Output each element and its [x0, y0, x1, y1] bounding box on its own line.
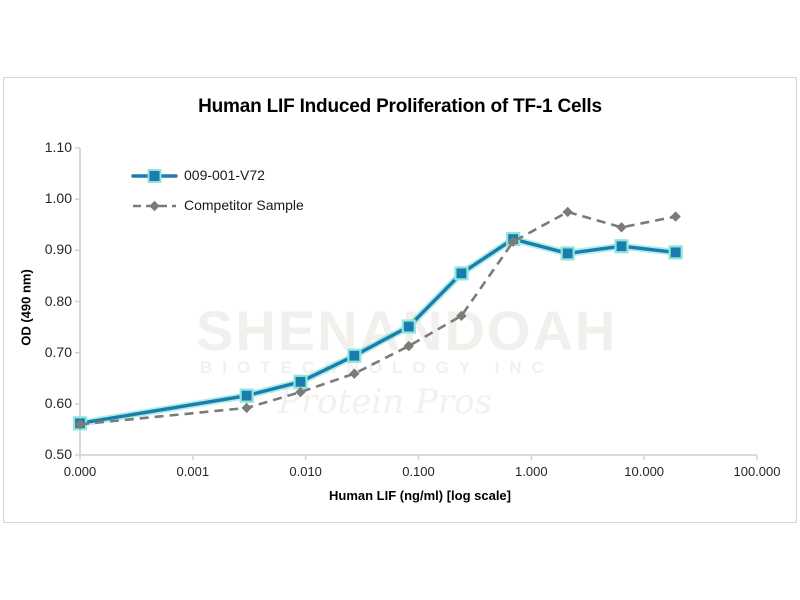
- y-tick-label: 0.90: [18, 241, 72, 257]
- x-tick-label: 0.001: [138, 464, 248, 479]
- x-axis-label: Human LIF (ng/ml) [log scale]: [80, 488, 760, 503]
- data-point-marker: [349, 368, 359, 378]
- y-tick-label: 0.60: [18, 395, 72, 411]
- x-tick-label: 1.000: [476, 464, 586, 479]
- legend-item-1[interactable]: 009-001-V72: [184, 167, 265, 183]
- axis-tick-marks: [75, 148, 757, 460]
- legend-glyphs: [133, 170, 176, 211]
- data-point-marker: [295, 376, 307, 388]
- x-tick-label: 0.010: [251, 464, 361, 479]
- chart-plot-area: [0, 0, 800, 600]
- data-point-marker: [616, 222, 626, 232]
- data-point-marker: [455, 267, 467, 279]
- x-tick-label: 10.000: [589, 464, 699, 479]
- y-tick-label: 0.70: [18, 344, 72, 360]
- data-point-marker: [241, 390, 253, 402]
- data-point-marker: [241, 403, 251, 413]
- data-point-marker: [348, 350, 360, 362]
- data-point-marker: [403, 321, 415, 333]
- series-1: [74, 233, 682, 429]
- data-point-marker: [404, 341, 414, 351]
- chart-title: Human LIF Induced Proliferation of TF-1 …: [0, 96, 800, 118]
- x-tick-label: 0.000: [25, 464, 135, 479]
- legend-item-2[interactable]: Competitor Sample: [184, 197, 304, 213]
- y-tick-label: 0.50: [18, 446, 72, 462]
- y-tick-label: 1.10: [18, 139, 72, 155]
- data-point-marker: [670, 211, 680, 221]
- data-point-marker: [616, 240, 628, 252]
- x-tick-label: 100.000: [702, 464, 800, 479]
- y-tick-label: 0.80: [18, 293, 72, 309]
- series-2: [75, 207, 681, 430]
- y-tick-label: 1.00: [18, 190, 72, 206]
- data-point-marker: [670, 246, 682, 258]
- data-point-marker: [562, 207, 572, 217]
- chart-figure: SHENANDOAH BIOTECHNOLOGY INC Protein Pro…: [0, 0, 800, 600]
- data-point-marker: [562, 247, 574, 259]
- x-tick-label: 0.100: [364, 464, 474, 479]
